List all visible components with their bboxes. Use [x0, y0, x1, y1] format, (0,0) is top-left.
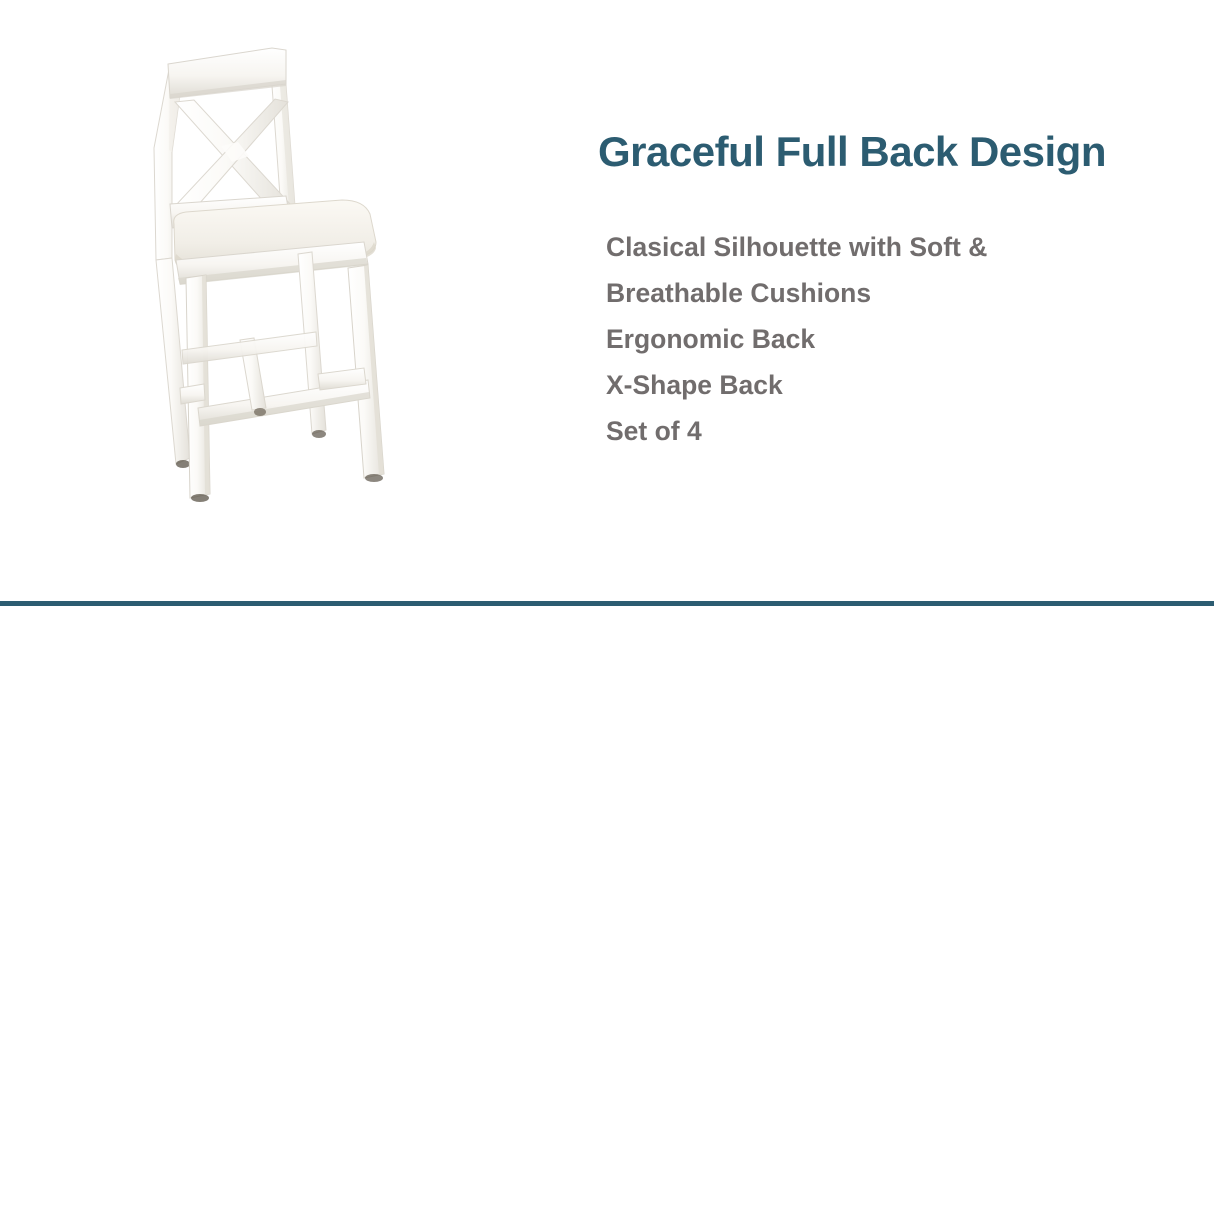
section-graceful-full-back-design: Graceful Full Back Design Clasical Silho…: [0, 0, 1214, 604]
section-stretcher-and-upholstery: Stretcher &Upholstery Stretcher for Supp…: [0, 608, 1214, 1214]
feature-line: Set of 4: [606, 408, 987, 454]
feature-line: Breathable Cushions: [606, 270, 987, 316]
feature-line: X-Shape Back: [606, 362, 987, 408]
feature-list-top: Clasical Silhouette with Soft & Breathab…: [606, 224, 987, 454]
chair-product-image: [120, 28, 450, 528]
page-title-graceful-full-back-design: Graceful Full Back Design: [598, 128, 1106, 176]
product-feature-page: Graceful Full Back Design Clasical Silho…: [0, 0, 1214, 1214]
section-divider: [0, 601, 1214, 606]
feature-line: Clasical Silhouette with Soft &: [606, 224, 987, 270]
chair-top-rail: [168, 48, 286, 99]
chair-x-brace: [175, 99, 292, 213]
feature-line: Ergonomic Back: [606, 316, 987, 362]
chair-stretcher-left: [180, 384, 205, 404]
